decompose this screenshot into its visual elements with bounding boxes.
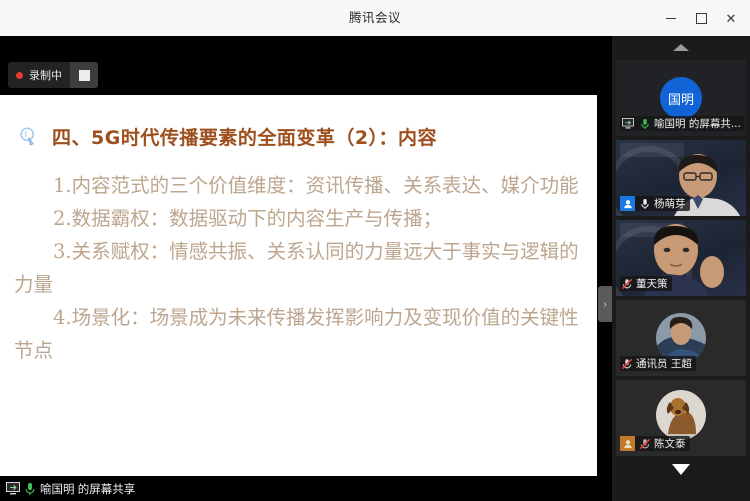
scroll-up-button[interactable] <box>612 36 750 58</box>
microphone-muted-icon <box>620 357 633 371</box>
tencent-meeting-window: 腾讯会议 ✕ 录制中 <box>0 0 750 501</box>
participant-tile[interactable]: 通讯员 王超 <box>616 300 746 376</box>
avatar: 国明 <box>660 77 702 119</box>
recording-label: 录制中 <box>29 67 62 83</box>
slide-paragraph: 3.关系赋权：情感共振、关系认同的力量远大于事实与逻辑的力量 <box>14 235 584 301</box>
slide-paragraph: 1.内容范式的三个价值维度：资讯传播、关系表达、媒介功能 <box>14 169 584 202</box>
participant-tile[interactable]: 陈文泰 <box>616 380 746 456</box>
participant-tile[interactable]: 国明 喻国明 的屏幕共... <box>616 60 746 136</box>
scroll-down-button[interactable] <box>612 464 750 486</box>
magnifier-pointer-icon <box>18 126 40 148</box>
microphone-icon <box>638 197 651 211</box>
chevron-up-icon <box>673 44 689 51</box>
microphone-icon <box>638 117 651 131</box>
slide-paragraph: 4.场景化：场景成为未来传播发挥影响力及变现价值的关键性节点 <box>14 301 584 367</box>
close-icon: ✕ <box>726 12 737 25</box>
participant-namebar: 杨萌芽 <box>620 196 690 211</box>
participant-name: 董天策 <box>636 276 668 291</box>
minimize-icon <box>666 18 676 19</box>
microphone-icon <box>24 482 36 496</box>
close-button[interactable]: ✕ <box>716 0 746 36</box>
recording-dot-icon <box>16 72 23 79</box>
stop-square-icon <box>79 70 90 81</box>
collapse-participants-handle[interactable]: › <box>598 286 612 322</box>
participant-namebar: 通讯员 王超 <box>620 356 696 371</box>
screen-share-status-bar: 喻国明 的屏幕共享 <box>0 476 618 501</box>
stop-recording-button[interactable] <box>70 62 98 88</box>
participant-tile[interactable]: 董天策 <box>616 220 746 296</box>
recording-indicator: 录制中 <box>8 62 98 88</box>
shared-screen-stage: 录制中 四、5G时代传播要素的全面变革（2）：内容 1.内容范式的三个价值维度：… <box>0 36 612 501</box>
slide-title: 四、5G时代传播要素的全面变革（2）：内容 <box>52 123 437 150</box>
screen-share-icon <box>6 482 20 495</box>
maximize-icon <box>696 13 707 24</box>
participant-name: 杨萌芽 <box>654 196 686 211</box>
participant-namebar: 董天策 <box>620 276 672 291</box>
recording-status: 录制中 <box>8 62 70 88</box>
maximize-button[interactable] <box>686 0 716 36</box>
window-controls: ✕ <box>656 0 746 36</box>
participant-namebar: 陈文泰 <box>620 436 690 451</box>
slide-body: 1.内容范式的三个价值维度：资讯传播、关系表达、媒介功能 2.数据霸权：数据驱动… <box>14 169 584 367</box>
participant-name: 陈文泰 <box>654 436 686 451</box>
participant-tile[interactable]: 杨萌芽 <box>616 140 746 216</box>
screen-share-badge-icon <box>620 116 635 131</box>
window-title: 腾讯会议 <box>0 0 750 36</box>
slide-paragraph: 2.数据霸权：数据驱动下的内容生产与传播； <box>14 202 584 235</box>
participant-name: 喻国明 的屏幕共... <box>654 116 740 131</box>
participant-name: 通讯员 王超 <box>636 356 692 371</box>
person-badge-icon <box>620 196 635 211</box>
participant-namebar: 喻国明 的屏幕共... <box>620 116 744 131</box>
chevron-right-icon: › <box>603 299 606 310</box>
microphone-muted-icon <box>638 437 651 451</box>
shared-slide: 四、5G时代传播要素的全面变革（2）：内容 1.内容范式的三个价值维度：资讯传播… <box>0 95 597 476</box>
participants-rail: 国明 喻国明 的屏幕共... <box>612 36 750 501</box>
person-badge-icon <box>620 436 635 451</box>
slide-title-row: 四、5G时代传播要素的全面变革（2）：内容 <box>18 123 437 150</box>
minimize-button[interactable] <box>656 0 686 36</box>
chevron-down-icon <box>672 464 690 475</box>
avatar <box>656 390 706 440</box>
screen-share-owner-label: 喻国明 的屏幕共享 <box>40 481 135 497</box>
title-bar: 腾讯会议 ✕ <box>0 0 750 37</box>
microphone-muted-icon <box>620 277 633 291</box>
